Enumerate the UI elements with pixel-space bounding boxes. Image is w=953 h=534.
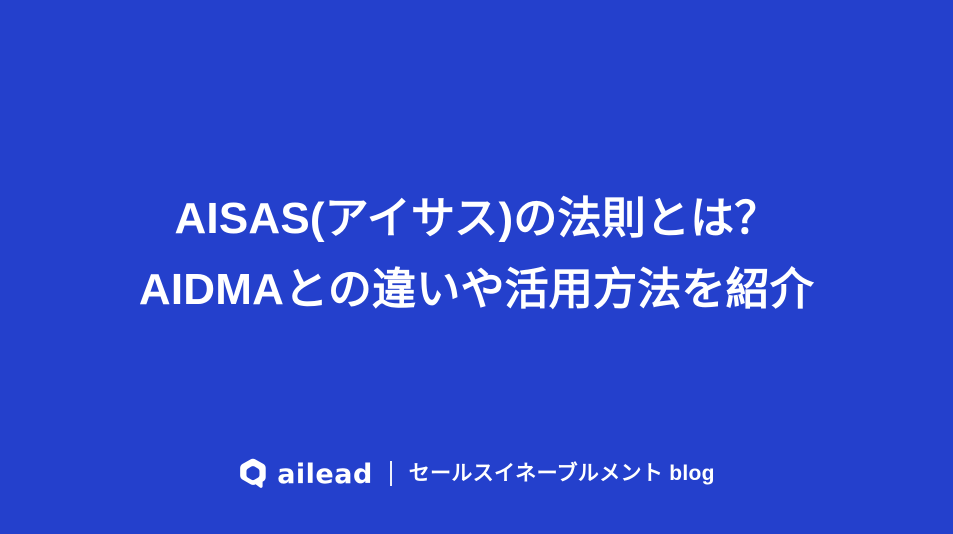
brand-logo: ailead (238, 458, 373, 489)
title-line-2: AIDMAとの違いや活用方法を紹介 (139, 267, 814, 314)
title-line-1: AISAS(アイサス)の法則とは？ (174, 196, 778, 243)
brand-tagline: セールスイネーブルメント blog (409, 463, 715, 484)
brand-footer: ailead セールスイネーブルメント blog (0, 458, 953, 489)
ailead-hexagon-logo-icon (238, 458, 268, 489)
page-title: AISAS(アイサス)の法則とは？ AIDMAとの違いや活用方法を紹介 (0, 196, 953, 313)
brand-wordmark: ailead (277, 461, 373, 488)
brand-divider (390, 461, 392, 486)
blog-title-slide: AISAS(アイサス)の法則とは？ AIDMAとの違いや活用方法を紹介 aile… (0, 0, 953, 534)
